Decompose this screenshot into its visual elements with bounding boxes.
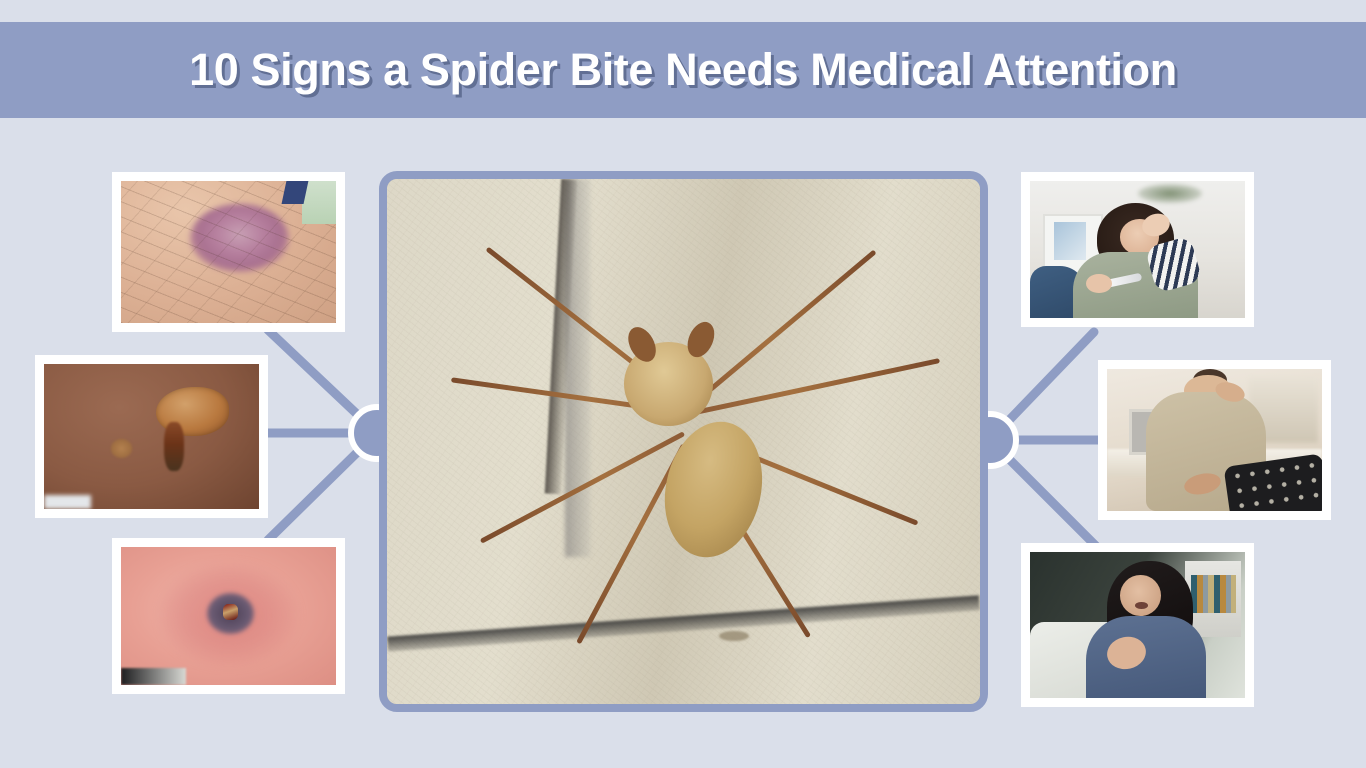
skin-surface (44, 364, 259, 509)
ulcer-drainage-track (164, 422, 183, 471)
fever-chills-photo (1030, 181, 1245, 318)
open-mouth (1135, 602, 1148, 609)
plant-foliage (1138, 184, 1203, 203)
thumbnail-card-swelling-bruising[interactable] (112, 172, 345, 332)
wall-art-shape (1054, 222, 1086, 260)
thumbnail-card-muscle-pain-cramps[interactable] (1098, 360, 1331, 520)
background-dark-strip (121, 668, 186, 685)
thumbnail-card-blistering-ulcer[interactable] (35, 355, 268, 518)
infographic-canvas: 10 Signs a Spider Bite Needs Medical Att… (0, 0, 1366, 768)
hand-holding-thermometer (1086, 274, 1112, 293)
center-image-frame (379, 171, 988, 712)
thumbnail-card-difficulty-breathing[interactable] (1021, 543, 1254, 707)
necrotic-center-photo (121, 547, 336, 685)
debris-speck (719, 631, 749, 642)
swelling-bruising-photo (121, 181, 336, 323)
background-sheet (302, 181, 336, 224)
muscle-pain-cramps-photo (1107, 369, 1322, 511)
brown-recluse-spider-photo (387, 179, 980, 704)
necrotic-eschar (223, 604, 238, 621)
blue-sweater (1086, 616, 1206, 698)
sheet-edge (44, 495, 91, 510)
difficulty-breathing-photo (1030, 552, 1245, 698)
thumbnail-card-fever-chills[interactable] (1021, 172, 1254, 327)
books (1191, 575, 1236, 613)
blistering-ulcer-photo (44, 364, 259, 509)
thumbnail-card-necrotic-center[interactable] (112, 538, 345, 694)
